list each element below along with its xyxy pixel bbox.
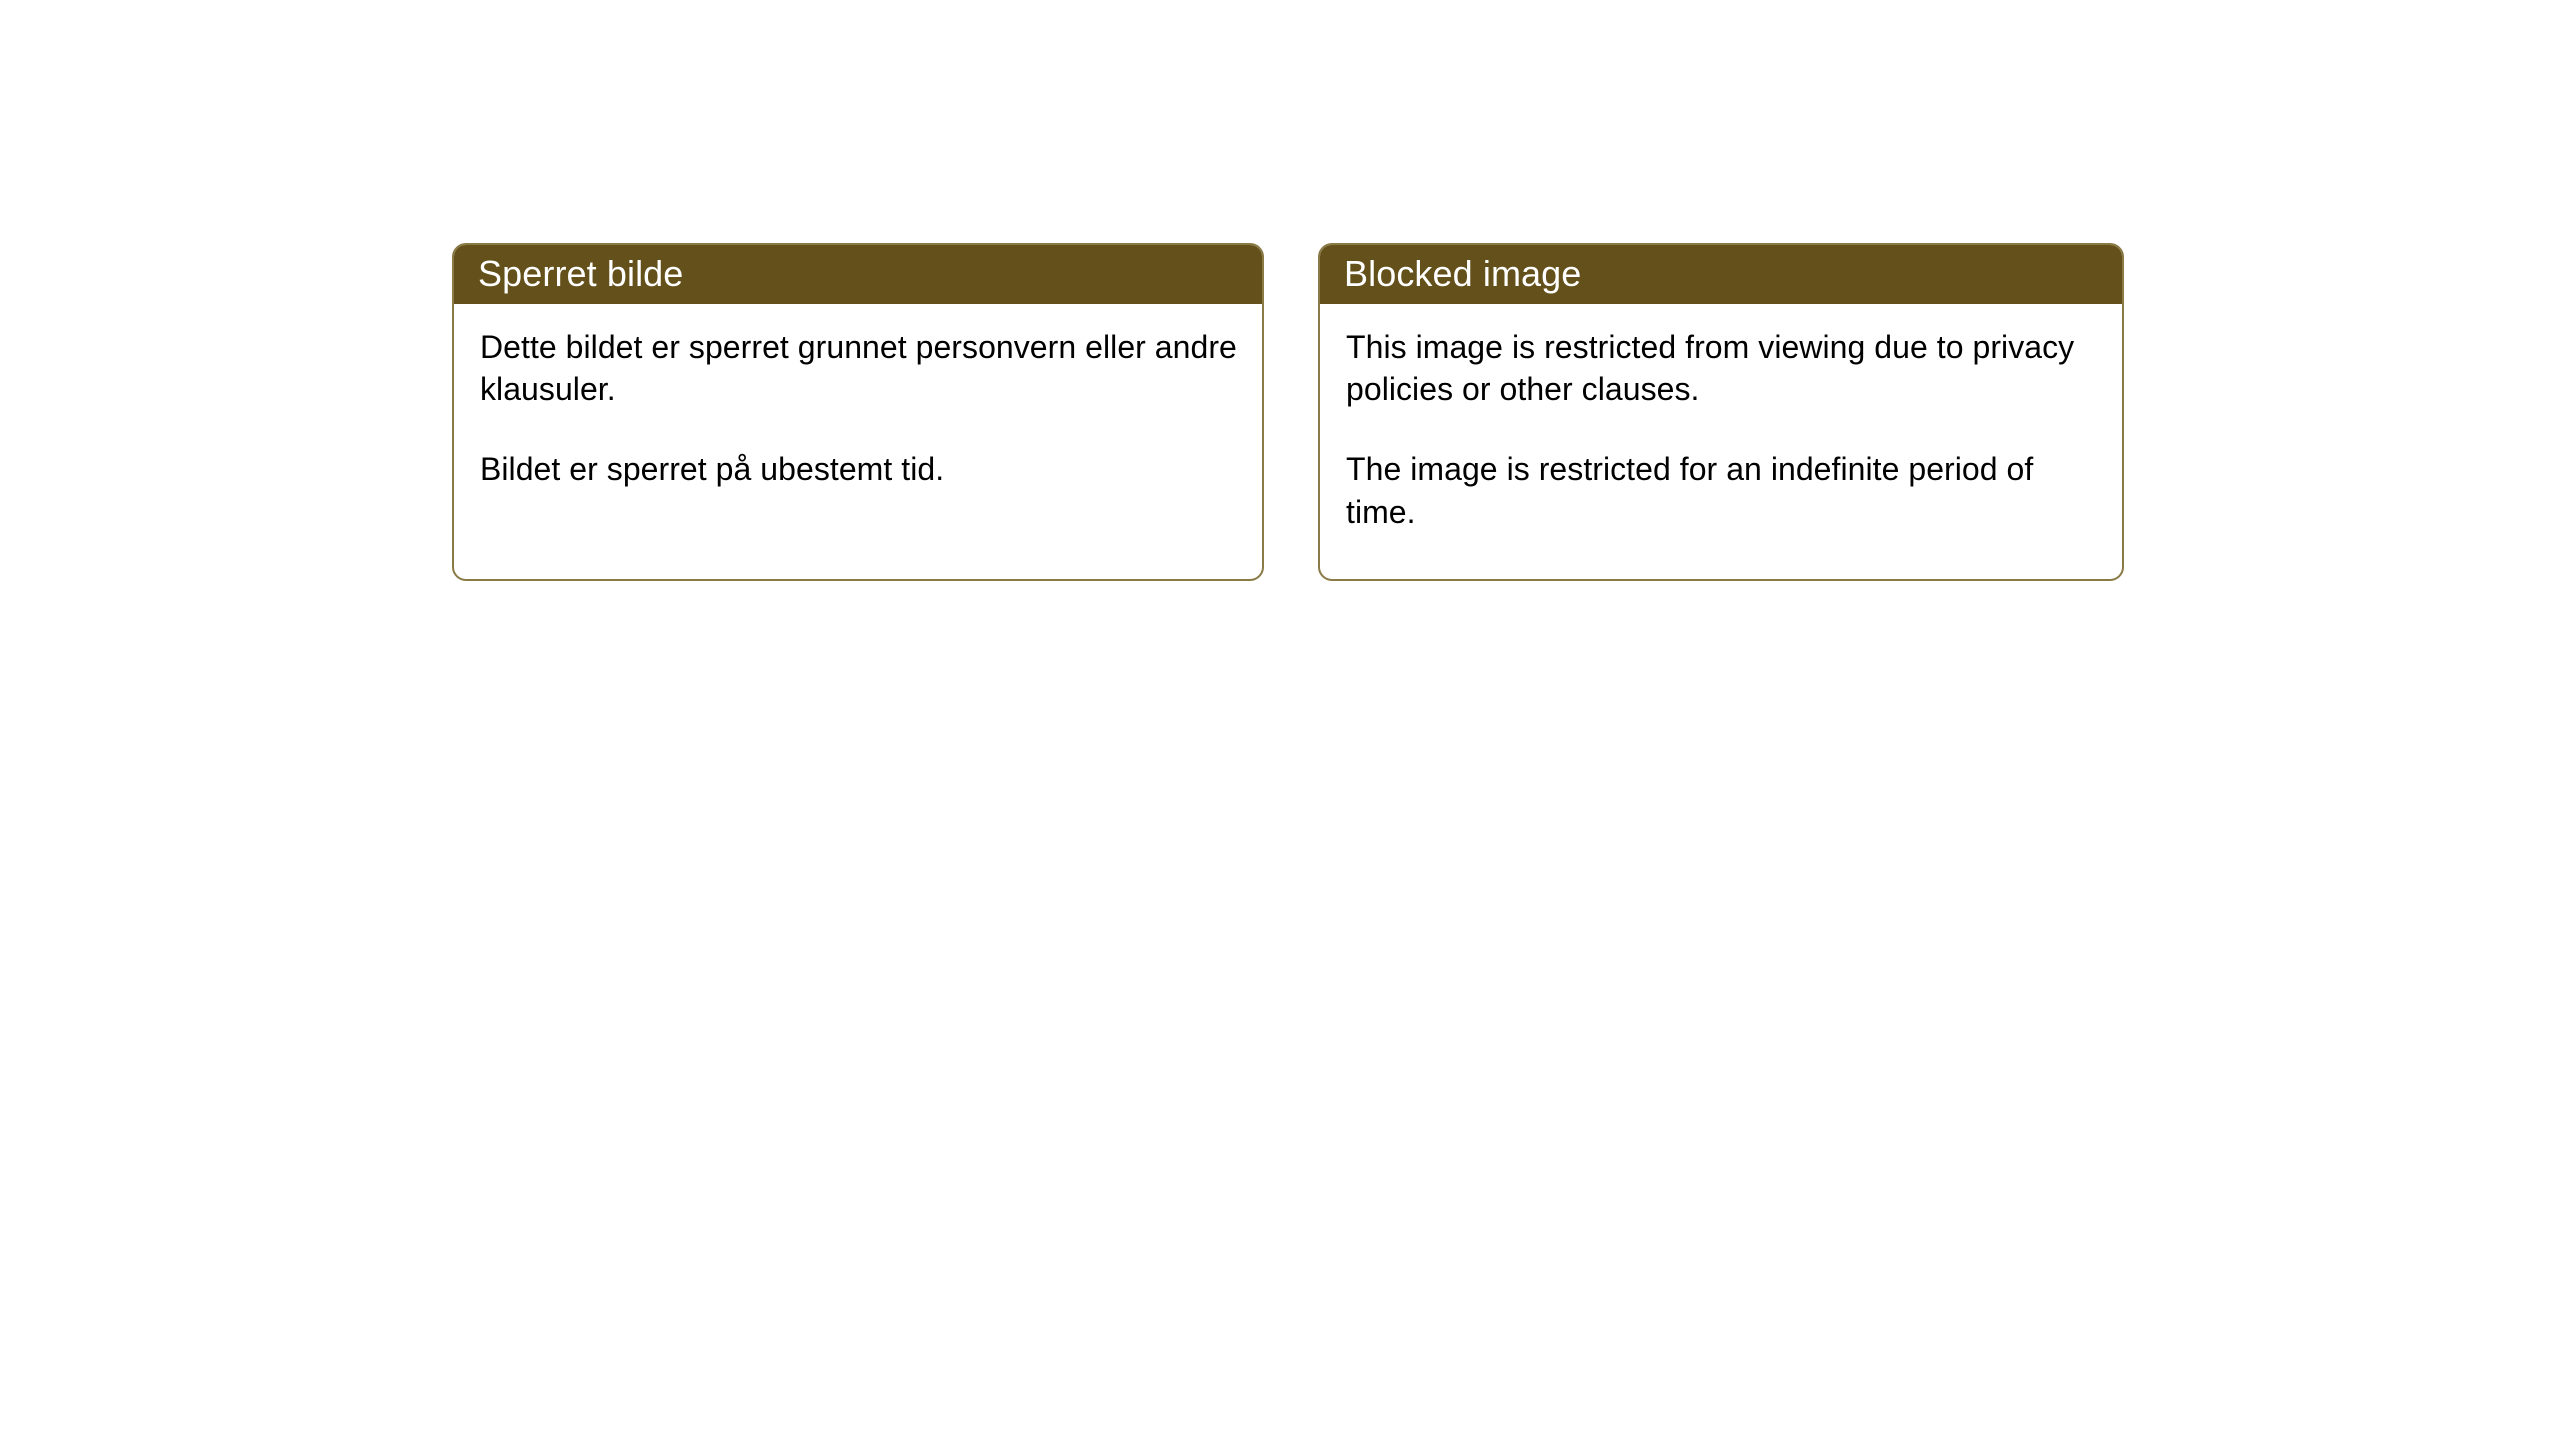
card-paragraph-primary-norwegian: Dette bildet er sperret grunnet personve…: [480, 326, 1240, 410]
card-paragraph-secondary-english: The image is restricted for an indefinit…: [1346, 448, 2100, 532]
blocked-image-card-norwegian: Sperret bilde Dette bildet er sperret gr…: [452, 243, 1264, 581]
page-canvas: Sperret bilde Dette bildet er sperret gr…: [0, 0, 2560, 1440]
card-header-norwegian: Sperret bilde: [452, 243, 1264, 304]
card-body-norwegian: Dette bildet er sperret grunnet personve…: [454, 304, 1262, 491]
blocked-image-card-english: Blocked image This image is restricted f…: [1318, 243, 2124, 581]
card-title-norwegian: Sperret bilde: [478, 256, 683, 292]
card-body-english: This image is restricted from viewing du…: [1320, 304, 2122, 533]
card-paragraph-secondary-norwegian: Bildet er sperret på ubestemt tid.: [480, 448, 1240, 490]
card-paragraph-primary-english: This image is restricted from viewing du…: [1346, 326, 2100, 410]
card-header-english: Blocked image: [1318, 243, 2124, 304]
card-title-english: Blocked image: [1344, 256, 1581, 292]
